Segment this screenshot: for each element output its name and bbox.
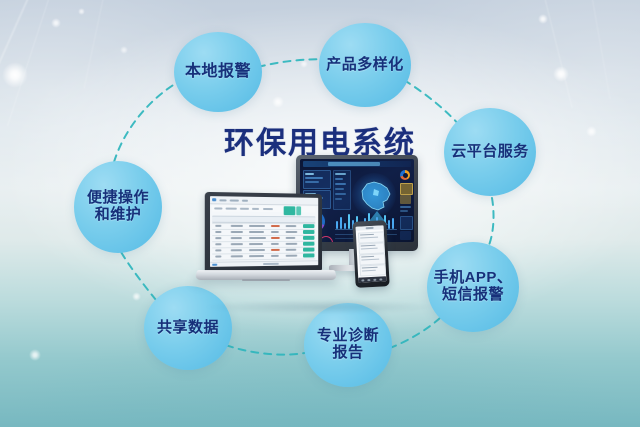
bubble-cloud-platform[interactable]: 云平台服务 bbox=[444, 108, 536, 196]
bubble-easy-operation[interactable]: 便捷操作和维护 bbox=[74, 161, 162, 253]
connector-left bbox=[114, 82, 178, 162]
smartphone bbox=[352, 220, 389, 288]
bubble-mobile-app-sms[interactable]: 手机APP、短信报警 bbox=[427, 242, 519, 332]
laptop-lid bbox=[205, 192, 322, 272]
bubble-label-line: 报告 bbox=[313, 345, 383, 362]
device-group bbox=[196, 155, 436, 315]
bubble-diagnosis-report[interactable]: 专业诊断报告 bbox=[304, 303, 392, 387]
bubble-label-line: 手机APP、 bbox=[430, 270, 517, 287]
laptop-screen bbox=[210, 196, 318, 267]
phone-screen bbox=[356, 225, 387, 282]
bubble-label-line: 便捷操作 bbox=[83, 190, 153, 207]
bubble-label-line: 本地报警 bbox=[181, 63, 255, 81]
laptop-lip bbox=[242, 279, 290, 281]
bubble-label-line: 共享数据 bbox=[153, 320, 223, 337]
bubble-product-diversity[interactable]: 产品多样化 bbox=[319, 23, 411, 107]
connector-bottom-left bbox=[120, 250, 156, 300]
connector-bottom-right bbox=[386, 318, 440, 349]
bubble-label-line: 专业诊断 bbox=[313, 328, 383, 345]
bubble-label-line: 产品多样化 bbox=[322, 57, 408, 74]
bubble-local-alarm[interactable]: 本地报警 bbox=[174, 32, 262, 112]
laptop bbox=[196, 193, 336, 301]
bubble-label-line: 短信报警 bbox=[430, 287, 517, 304]
bubble-label-line: 和维护 bbox=[83, 207, 153, 224]
bubble-label-line: 云平台服务 bbox=[447, 144, 533, 161]
poster-canvas: 本地报警产品多样化云平台服务手机APP、短信报警专业诊断报告共享数据便捷操作和维… bbox=[0, 0, 640, 427]
